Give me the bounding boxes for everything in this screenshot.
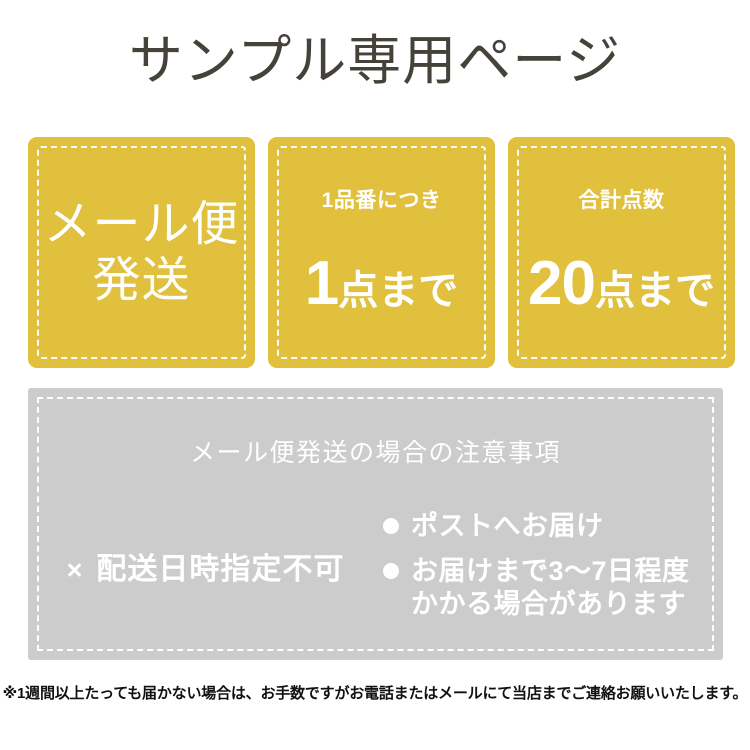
shipping-method-line-1: メール便 <box>28 197 255 253</box>
feature-box-shipping-method: メール便 発送 <box>28 137 255 368</box>
per-item-limit-number: 1 <box>305 258 338 310</box>
feature-box-per-item-limit: 1品番につき 1 点まで <box>268 137 495 368</box>
cross-mark-icon: × <box>67 551 84 589</box>
total-limit-value: 20 点まで <box>508 258 735 317</box>
bullet-dot-icon <box>383 563 399 579</box>
feature-box-group: メール便 発送 1品番につき 1 点まで 合計点数 20 点まで <box>28 137 723 368</box>
total-limit-number: 20 <box>528 258 595 310</box>
footer-note: ※1週間以上たっても届かない場合は、お手数ですがお電話またはメールにて当店までご… <box>0 683 750 705</box>
notice-restriction-text: 配送日時指定不可 <box>96 551 344 589</box>
feature-box-shipping-method-content: メール便 発送 <box>28 197 255 309</box>
notice-bullet-text-2: お届けまで3〜7日程度 かかる場合があります <box>411 555 690 621</box>
sample-page-banner: サンプル専用ページ メール便 発送 1品番につき 1 点まで 合計点数 20 <box>0 0 750 750</box>
feature-box-per-item-limit-content: 1品番につき 1 点まで <box>268 188 495 317</box>
feature-box-total-limit-content: 合計点数 20 点まで <box>508 188 735 317</box>
per-item-limit-unit: 点まで <box>338 265 458 317</box>
shipping-method-line-2: 発送 <box>28 253 255 309</box>
page-title: サンプル専用ページ <box>0 28 750 94</box>
list-item: お届けまで3〜7日程度 かかる場合があります <box>383 555 723 621</box>
notice-body: × 配送日時指定不可 ポストへお届け お届けまで3〜7日程度 かかる場合がありま… <box>28 500 723 640</box>
total-limit-caption: 合計点数 <box>508 188 735 214</box>
notice-bullet-text-1: ポストへお届け <box>411 510 604 543</box>
list-item: ポストへお届け <box>383 510 723 543</box>
notice-restriction: × 配送日時指定不可 <box>28 500 383 640</box>
notice-heading: メール便発送の場合の注意事項 <box>28 437 723 469</box>
total-limit-unit: 点まで <box>595 265 715 317</box>
notice-bullet-list: ポストへお届け お届けまで3〜7日程度 かかる場合があります <box>383 500 723 621</box>
per-item-limit-value: 1 点まで <box>268 258 495 317</box>
bullet-dot-icon <box>383 518 399 534</box>
notice-panel: メール便発送の場合の注意事項 × 配送日時指定不可 ポストへお届け お届けまで3… <box>28 388 723 660</box>
feature-box-total-limit: 合計点数 20 点まで <box>508 137 735 368</box>
per-item-limit-caption: 1品番につき <box>268 188 495 214</box>
